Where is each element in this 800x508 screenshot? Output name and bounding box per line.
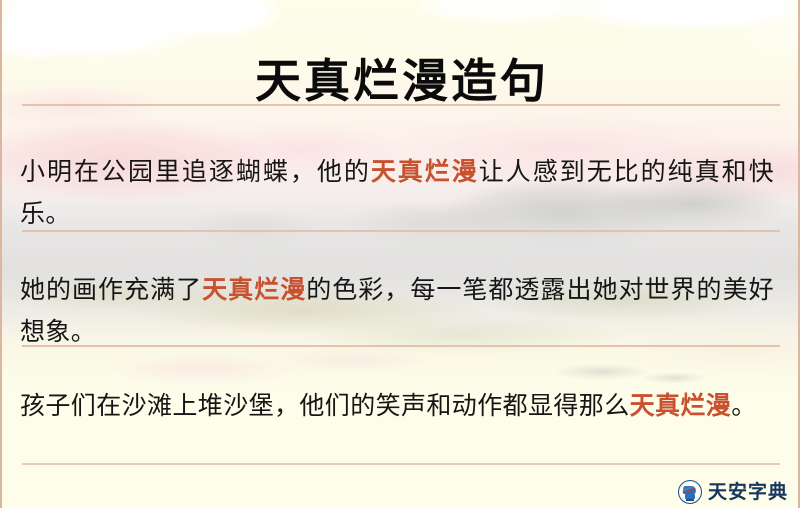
divider-rule-3 <box>22 345 780 347</box>
page-title: 天真烂漫造句 <box>2 53 800 109</box>
sentence-1-keyword: 天真烂漫 <box>371 157 479 186</box>
sentence-item-2: 她的画作充满了天真烂漫的色彩，每一笔都透露出她对世界的美好想象。 <box>20 269 774 353</box>
brand-seal-icon <box>678 480 702 504</box>
sentence-3-index: 孩子们在沙滩上堆沙堡，他们的笑声和动作都显得那么 <box>20 391 630 420</box>
divider-rule-1 <box>22 104 780 106</box>
dictionary-sentence-page: 天真烂漫造句 小明在公园里追逐蝴蝶，他的天真烂漫让人感到无比的纯真和快乐。 她的… <box>0 0 800 508</box>
sentence-3-keyword: 天真烂漫 <box>630 391 732 420</box>
divider-rule-2 <box>22 230 780 232</box>
sentence-2-index: 她的画作充满了 <box>20 275 202 304</box>
footer-brand[interactable]: 天安字典 <box>678 480 788 504</box>
page-content: 天真烂漫造句 小明在公园里追逐蝴蝶，他的天真烂漫让人感到无比的纯真和快乐。 她的… <box>2 0 800 508</box>
sentence-2-keyword: 天真烂漫 <box>202 275 306 304</box>
sentence-1-index: 小明在公园里追逐蝴蝶，他的 <box>20 157 371 186</box>
sentence-3-tail: 。 <box>731 391 756 420</box>
sentence-item-1: 小明在公园里追逐蝴蝶，他的天真烂漫让人感到无比的纯真和快乐。 <box>20 151 774 235</box>
divider-rule-footer <box>22 463 780 465</box>
sentence-item-3: 孩子们在沙滩上堆沙堡，他们的笑声和动作都显得那么天真烂漫。 <box>20 385 774 427</box>
brand-name: 天安字典 <box>708 481 788 503</box>
